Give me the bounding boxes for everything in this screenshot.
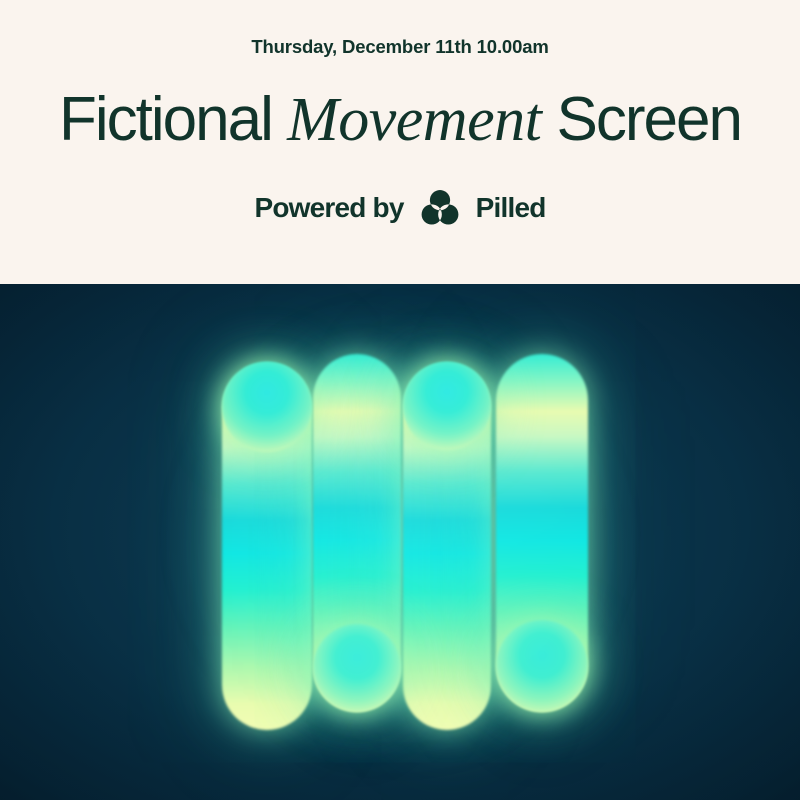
cap-dot-bar-1	[222, 362, 312, 452]
glowing-capsules-graphic	[0, 284, 800, 800]
powered-by-label: Powered by	[254, 192, 403, 224]
powered-by-row: Powered by	[254, 185, 545, 231]
brand-name: Pilled	[476, 192, 546, 224]
header-panel: Thursday, December 11th 10.00am Fictiona…	[0, 0, 800, 284]
title-part-three: Screen	[541, 85, 741, 154]
poster-canvas: Thursday, December 11th 10.00am Fictiona…	[0, 0, 800, 800]
title-part-emphasis: Movement	[287, 86, 541, 154]
three-overlapping-circles-icon	[417, 185, 463, 231]
page-title: Fictional Movement Screen	[59, 88, 741, 152]
title-part-one: Fictional	[59, 85, 287, 154]
cap-dot-bar-4	[496, 620, 588, 712]
artwork-stage	[0, 284, 800, 800]
cap-dot-bar-2	[313, 624, 401, 712]
cap-dot-bar-3	[403, 362, 491, 450]
event-date-time: Thursday, December 11th 10.00am	[251, 36, 548, 58]
